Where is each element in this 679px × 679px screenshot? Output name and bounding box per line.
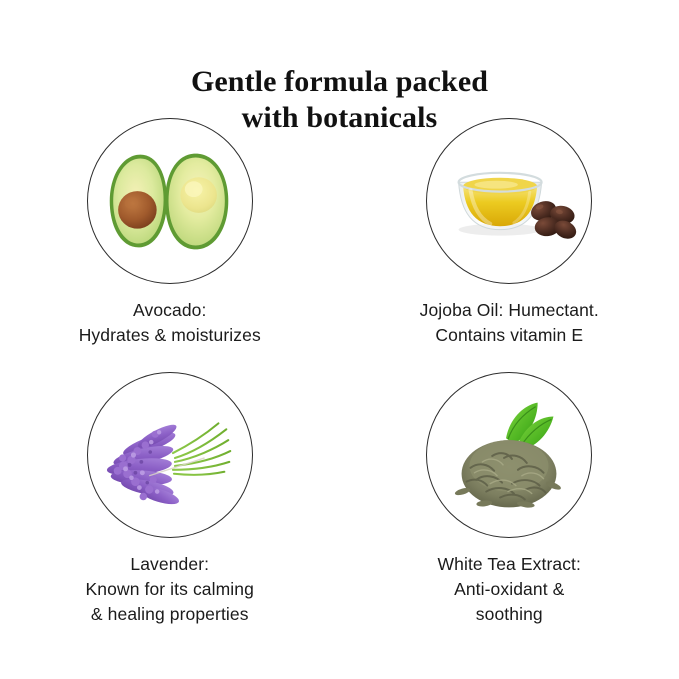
avocado-caption: Avocado: Hydrates & moisturizes [20, 298, 320, 348]
ingredient-grid: Avocado: Hydrates & moisturizes [0, 118, 679, 627]
ingredients-infographic: Gentle formula packed with botanicals [0, 0, 679, 679]
ingredient-card-white-tea-extract: White Tea Extract: Anti-oxidant & soothi… [340, 368, 679, 627]
avocado-halves-icon [88, 119, 252, 283]
ingredient-card-lavender: Lavender: Known for its calming & healin… [0, 368, 340, 627]
white-tea-caption-line-2: Anti-oxidant & [359, 577, 659, 602]
jojoba-oil-caption-line-2: Contains vitamin E [359, 323, 659, 348]
ingredient-card-avocado: Avocado: Hydrates & moisturizes [0, 118, 340, 368]
jojoba-oil-caption-line-1: Jojoba Oil: Humectant. [359, 298, 659, 323]
jojoba-oil-medallion [426, 118, 592, 284]
avocado-medallion [87, 118, 253, 284]
avocado-caption-line-2: Hydrates & moisturizes [20, 323, 320, 348]
avocado-caption-line-1: Avocado: [20, 298, 320, 323]
lavender-stems [173, 423, 230, 474]
avocado-half-right [165, 154, 228, 250]
ingredient-card-jojoba-oil: Jojoba Oil: Humectant. Contains vitamin … [340, 118, 679, 368]
avocado-half-left [109, 155, 166, 248]
jojoba-oil-bowl-icon [427, 119, 591, 283]
page-title-line-1: Gentle formula packed [0, 64, 679, 100]
lavender-caption-line-2: Known for its calming [20, 577, 320, 602]
white-tea-leaves-icon [427, 373, 591, 537]
lavender-caption: Lavender: Known for its calming & healin… [20, 552, 320, 627]
lavender-caption-line-1: Lavender: [20, 552, 320, 577]
lavender-bundle-icon [88, 373, 252, 537]
jojoba-seeds [529, 198, 580, 242]
white-tea-caption-line-3: soothing [359, 602, 659, 627]
white-tea-medallion [426, 372, 592, 538]
white-tea-caption-line-1: White Tea Extract: [359, 552, 659, 577]
lavender-caption-line-3: & healing properties [20, 602, 320, 627]
white-tea-caption: White Tea Extract: Anti-oxidant & soothi… [359, 552, 659, 627]
lavender-medallion [87, 372, 253, 538]
lavender-flowers [106, 421, 181, 508]
jojoba-oil-caption: Jojoba Oil: Humectant. Contains vitamin … [359, 298, 659, 348]
